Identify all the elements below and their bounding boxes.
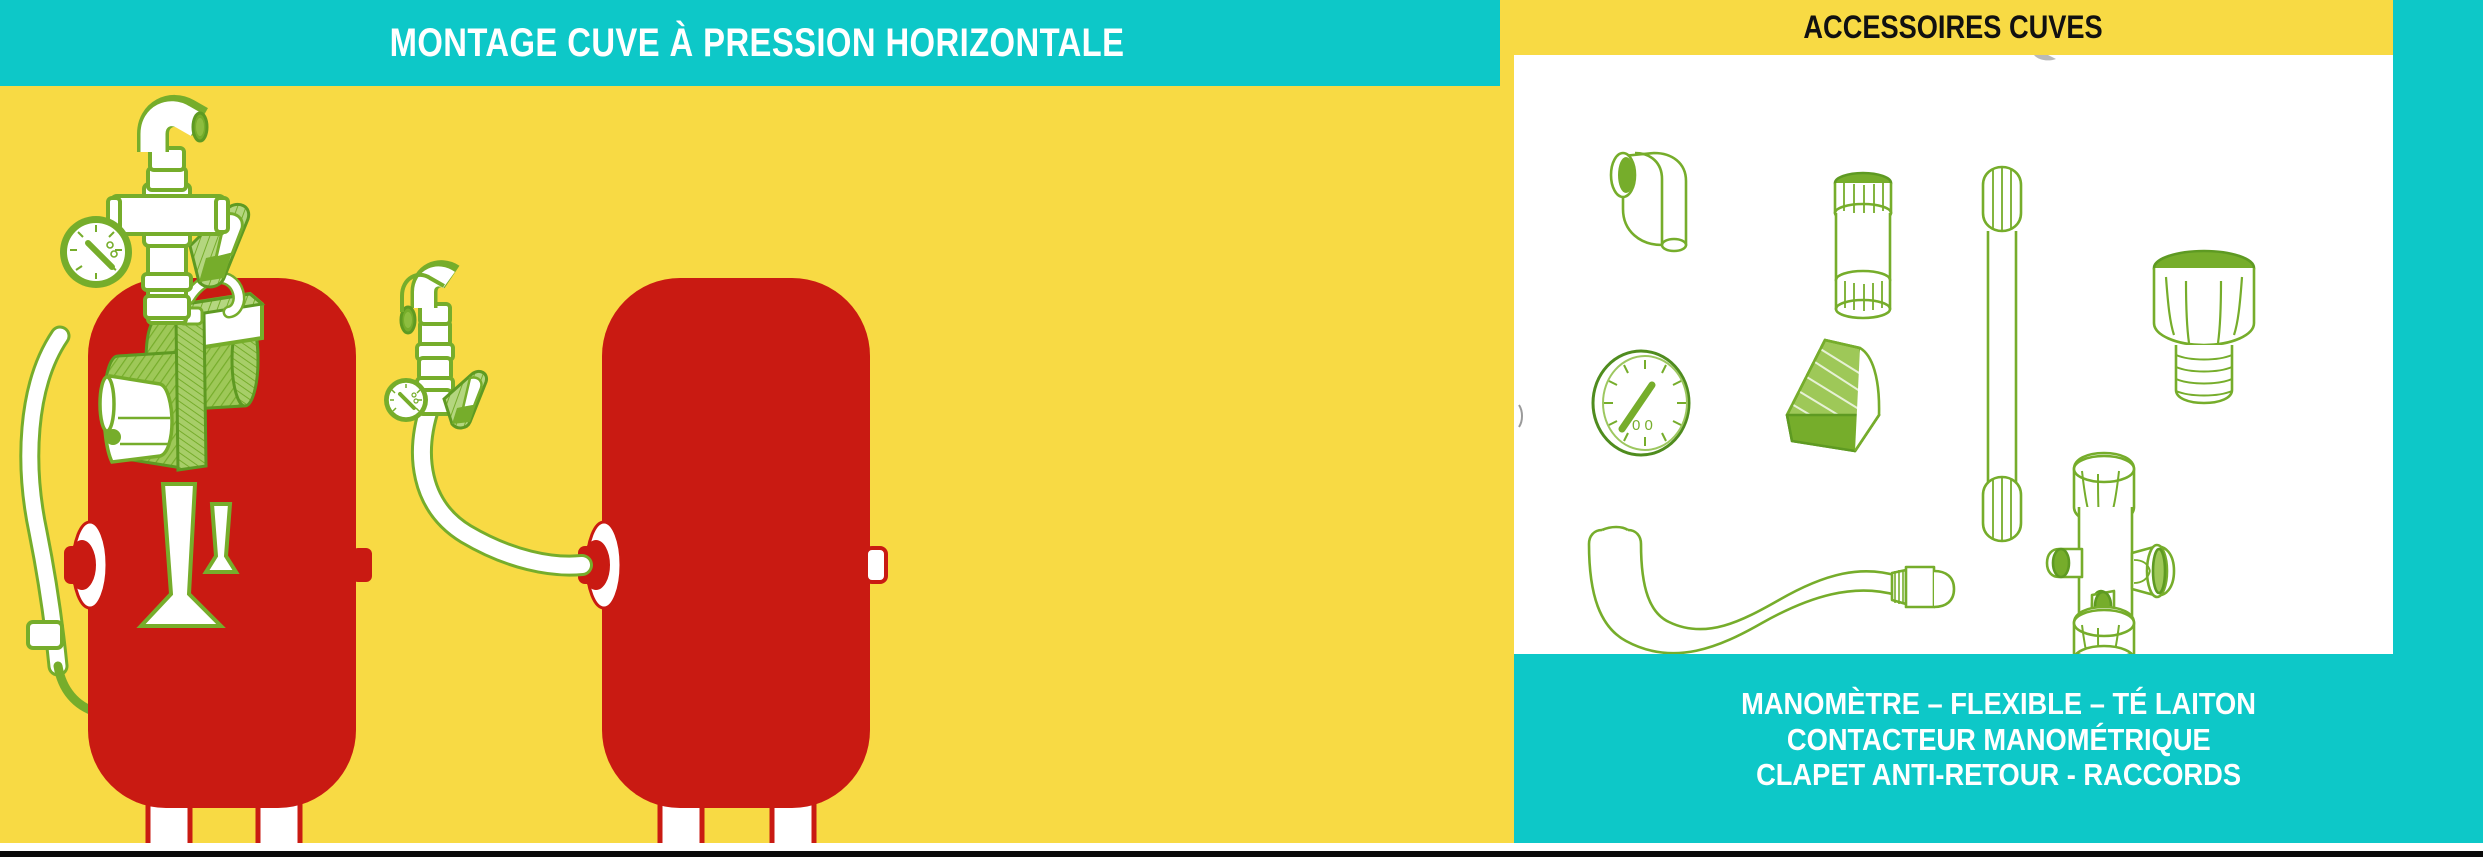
te-laiton-icon	[2047, 453, 2174, 654]
clapet-anti-retour-icon	[1835, 173, 1891, 318]
flexible-caoutchouc-icon	[1589, 527, 1954, 653]
accessories-illustration-area: 0 0	[1514, 55, 2393, 654]
manometre-1	[60, 216, 132, 288]
flexible-inox-icon	[1983, 167, 2021, 542]
right-panel-header: ACCESSOIRES CUVES	[1514, 0, 2393, 55]
tank-with-fitting-assembly	[384, 274, 886, 843]
raccord-flexible-cuve	[28, 622, 62, 648]
raccord-ecrou-icon	[2154, 251, 2254, 403]
coude-laiton-icon	[1611, 153, 1686, 251]
bottom-black-rule	[0, 851, 2483, 857]
accessories-diagram: 0 0	[1514, 55, 2393, 654]
caption-line-3: CLAPET ANTI-RETOUR - RACCORDS	[1756, 759, 2241, 791]
manometre-dial-zeros: 0 0	[1632, 417, 1653, 434]
left-header-title: MONTAGE CUVE À PRESSION HORIZONTALE	[390, 21, 1125, 66]
accessories-caption: MANOMÈTRE – FLEXIBLE – TÉ LAITON CONTACT…	[1514, 654, 2483, 857]
left-panel: MONTAGE CUVE À PRESSION HORIZONTALE	[0, 0, 1514, 857]
clipped-arc-glyph	[1519, 405, 1522, 427]
left-panel-header: MONTAGE CUVE À PRESSION HORIZONTALE	[0, 0, 1514, 86]
manometre-icon: 0 0	[1593, 351, 1689, 455]
surpresseur-tank-assembly	[28, 111, 372, 843]
coude-laiton-1	[153, 111, 207, 152]
montage-diagram	[0, 86, 1514, 843]
clipped-sliver	[2034, 55, 2056, 60]
poster-root: MONTAGE CUVE À PRESSION HORIZONTALE	[0, 0, 2483, 857]
right-header-title: ACCESSOIRES CUVES	[1804, 9, 2103, 46]
right-panel: ACCESSOIRES CUVES	[1514, 0, 2483, 857]
cuve-pression-horizontale-2	[578, 278, 886, 843]
flexible-refoulement	[422, 406, 582, 566]
contacteur-manometrique-icon	[1787, 340, 1879, 451]
right-panel-yellow-strip	[1500, 0, 1514, 654]
caption-line-2: CONTACTEUR MANOMÉTRIQUE	[1787, 724, 2211, 756]
caption-line-1: MANOMÈTRE – FLEXIBLE – TÉ LAITON	[1741, 688, 2256, 720]
left-panel-illustration-area	[0, 86, 1514, 843]
manometre-2	[384, 378, 428, 422]
